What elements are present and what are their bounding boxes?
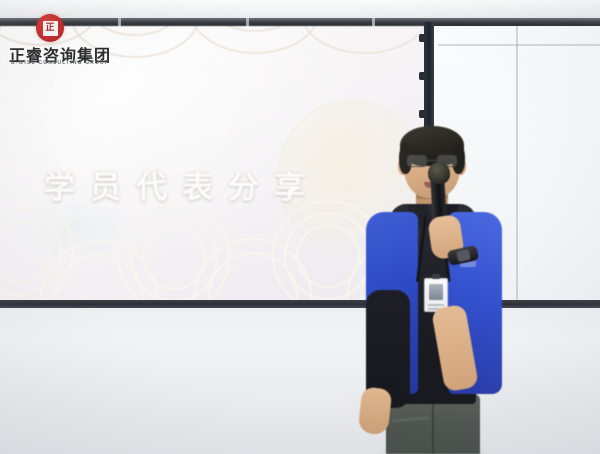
eyebrow-left bbox=[409, 151, 426, 154]
badge-photo bbox=[429, 284, 443, 300]
logo-english-name: G-WISE CONSULTING GROUP bbox=[8, 60, 112, 66]
wall-seam-vertical bbox=[516, 26, 518, 338]
presenter-figure bbox=[352, 120, 512, 454]
screenshot-root: 学员代表分享 正 正睿咨询集团 G-WISE CONSULTING GROUP bbox=[0, 0, 600, 454]
badge-text-line bbox=[428, 304, 444, 306]
brand-logo: 正 正睿咨询集团 G-WISE CONSULTING GROUP bbox=[8, 14, 112, 66]
trouser-seam bbox=[432, 402, 434, 454]
eyebrow-right bbox=[438, 151, 455, 154]
lens-left bbox=[407, 155, 427, 167]
seal-inner: 正 bbox=[43, 21, 58, 36]
badge-clip bbox=[432, 274, 440, 279]
company-seal-icon: 正 bbox=[36, 14, 64, 42]
screen-frame-tab bbox=[419, 34, 426, 42]
screen-frame-tab bbox=[419, 110, 426, 118]
slide-headline: 学员代表分享 bbox=[44, 166, 324, 210]
seal-glyph: 正 bbox=[45, 24, 54, 33]
glasses-bridge bbox=[427, 160, 437, 161]
wall-seam-horizontal bbox=[438, 44, 600, 46]
screen-frame-tab bbox=[419, 72, 426, 80]
microphone-icon bbox=[427, 161, 450, 184]
